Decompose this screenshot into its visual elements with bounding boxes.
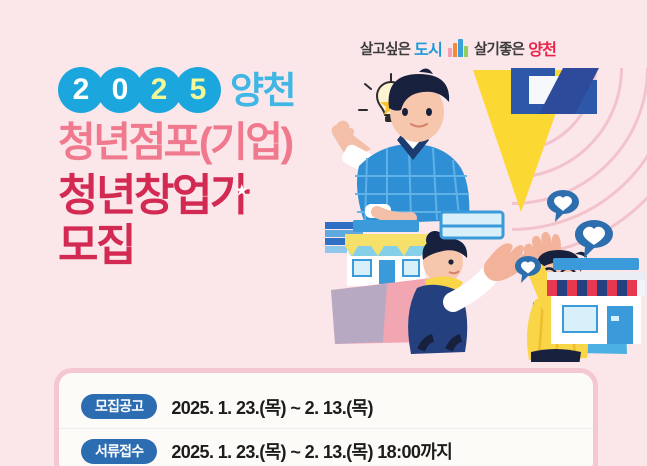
young-entrepreneurs-illustration [325, 62, 647, 362]
brand-text-part2: 도시 [414, 36, 442, 60]
badge-application: 서류접수 [81, 439, 157, 464]
year-badge-group: 2 0 2 5 [58, 67, 214, 113]
badge-announcement: 모집공고 [81, 394, 157, 419]
storefront-left-icon [345, 220, 427, 286]
info-row-announcement: 모집공고 2025. 1. 23.(목) ~ 2. 13.(목) [59, 385, 593, 429]
monitor-icon [441, 212, 503, 238]
brand-text-part4: 양천 [528, 36, 556, 60]
city-buildings-icon [448, 39, 468, 57]
brand-logo: 살고싶은 도시 살기좋은 양천 [360, 36, 556, 60]
title-line-founder-text: 청년창업가 [58, 171, 248, 220]
title-yangcheon: 양천 [230, 72, 295, 109]
year-digit-4: 5 [175, 67, 221, 113]
schedule-info-card: 모집공고 2025. 1. 23.(목) ~ 2. 13.(목) 서류접수 20… [54, 368, 598, 466]
application-period-text: 2025. 1. 23.(목) ~ 2. 13.(목) 18:00까지 [171, 438, 452, 464]
brand-text-part3: 살기좋은 [474, 38, 524, 59]
poster-canvas: 살고싶은 도시 살기좋은 양천 2 0 2 5 양천 청년점포(기업) 청년창업… [0, 0, 647, 466]
waving-young-man [332, 68, 470, 224]
info-row-application: 서류접수 2025. 1. 23.(목) ~ 2. 13.(목) 18:00까지 [59, 429, 593, 466]
brand-text-part1: 살고싶은 [360, 38, 410, 59]
announcement-period-text: 2025. 1. 23.(목) ~ 2. 13.(목) [171, 394, 373, 420]
